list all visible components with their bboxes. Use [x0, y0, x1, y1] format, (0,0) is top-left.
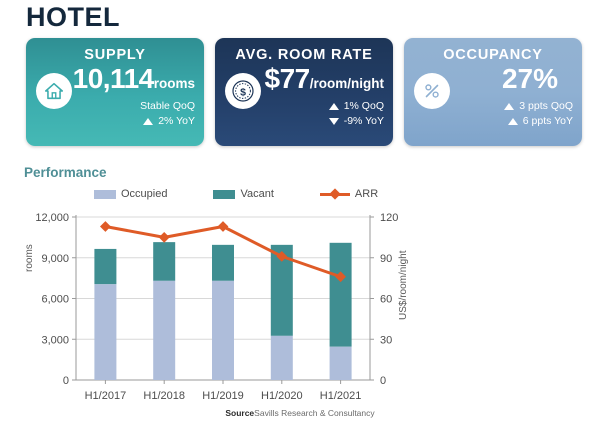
kpi-card-occupancy-metric-yoy: 6 ppts YoY — [508, 115, 573, 127]
performance-chart: Occupied Vacant ARR 03,0006,0009,00012,0… — [0, 188, 600, 406]
kpi-card-occupancy[interactable]: OCCUPANCY 27% 3 ppts QoQ 6 ppts YoY — [404, 38, 582, 146]
page-title: HOTEL — [26, 2, 120, 33]
supply-metric-yoy-text: 2% YoY — [158, 115, 195, 127]
x-axis-tick-label: H1/2019 — [202, 390, 244, 402]
occupancy-metric-yoy-text: 6 ppts YoY — [523, 115, 573, 127]
y-axis-tick-right: 0 — [380, 375, 386, 387]
chart-plot-area: 03,0006,0009,00012,0000306090120H1/2017H… — [0, 188, 600, 406]
section-title-performance: Performance — [24, 165, 107, 180]
kpi-card-avg-room-rate-title: AVG. ROOM RATE — [215, 47, 393, 63]
supply-metric-qoq-text: Stable QoQ — [140, 100, 195, 112]
svg-text:$: $ — [240, 86, 246, 98]
arr-data-point — [100, 221, 111, 232]
y-axis-tick-left: 12,000 — [35, 212, 69, 224]
y-axis-tick-right: 60 — [380, 294, 392, 306]
kpi-card-supply-body: 10,114rooms Stable QoQ 2% YoY — [26, 63, 204, 135]
kpi-card-occupancy-value: 27% — [502, 65, 558, 93]
bar-vacant — [94, 249, 116, 284]
source-text: Savills Research & Consultancy — [254, 408, 374, 418]
kpi-card-avg-room-rate-value: $77/room/night — [265, 65, 384, 93]
kpi-card-avg-room-rate-metric-qoq: 1% QoQ — [329, 100, 384, 112]
bar-vacant — [330, 243, 352, 347]
supply-value-unit: rooms — [154, 76, 195, 91]
bar-vacant — [212, 245, 234, 281]
kpi-card-occupancy-body: 27% 3 ppts QoQ 6 ppts YoY — [404, 63, 582, 135]
rate-metric-qoq-text: 1% QoQ — [344, 100, 384, 112]
kpi-card-occupancy-title: OCCUPANCY — [404, 47, 582, 63]
dollar-coin-icon: $ — [225, 73, 261, 109]
y-axis-tick-left: 0 — [63, 375, 69, 387]
arrow-up-icon — [143, 118, 153, 125]
arr-data-point — [159, 232, 170, 243]
house-icon — [36, 73, 72, 109]
y-axis-tick-left: 6,000 — [41, 294, 69, 306]
y-axis-tick-left: 9,000 — [41, 253, 69, 265]
arrow-up-icon — [508, 118, 518, 125]
kpi-card-avg-room-rate-metric-yoy: -9% YoY — [329, 115, 384, 127]
y-axis-tick-right: 120 — [380, 212, 398, 224]
rate-metric-yoy-text: -9% YoY — [344, 115, 384, 127]
y-axis-label-right: US$/room/night — [398, 251, 409, 320]
x-axis-tick-label: H1/2020 — [261, 390, 303, 402]
bar-occupied — [212, 281, 234, 380]
hotel-dashboard: HOTEL SUPPLY 10,114rooms Stable QoQ — [0, 0, 600, 425]
kpi-card-occupancy-metric-qoq: 3 ppts QoQ — [504, 100, 573, 112]
y-axis-tick-right: 30 — [380, 334, 392, 346]
arr-data-point — [218, 221, 229, 232]
x-axis-tick-label: H1/2018 — [143, 390, 185, 402]
kpi-card-avg-room-rate[interactable]: AVG. ROOM RATE $ $77/room/night 1% QoQ — [215, 38, 393, 146]
x-axis-tick-label: H1/2017 — [85, 390, 127, 402]
bar-vacant — [153, 242, 175, 281]
arrow-down-icon — [329, 118, 339, 125]
kpi-card-supply-title: SUPPLY — [26, 47, 204, 63]
percent-icon — [414, 73, 450, 109]
bar-occupied — [271, 336, 293, 380]
rate-value-unit: /room/night — [310, 76, 384, 91]
arrow-up-icon — [329, 103, 339, 110]
rate-value-number: $77 — [265, 63, 310, 94]
kpi-card-avg-room-rate-body: $ $77/room/night 1% QoQ -9% YoY — [215, 63, 393, 135]
bar-occupied — [153, 281, 175, 380]
supply-value-number: 10,114 — [73, 63, 154, 94]
kpi-card-supply[interactable]: SUPPLY 10,114rooms Stable QoQ — [26, 38, 204, 146]
source-note: SourceSavills Research & Consultancy — [0, 408, 600, 418]
occupancy-metric-qoq-text: 3 ppts QoQ — [519, 100, 573, 112]
bar-occupied — [330, 347, 352, 380]
kpi-card-supply-metric-qoq: Stable QoQ — [125, 100, 195, 112]
kpi-card-supply-value: 10,114rooms — [73, 65, 195, 93]
bar-occupied — [94, 284, 116, 380]
kpi-card-supply-metric-yoy: 2% YoY — [143, 115, 195, 127]
source-prefix: Source — [225, 408, 254, 418]
y-axis-tick-right: 90 — [380, 253, 392, 265]
y-axis-tick-left: 3,000 — [41, 334, 69, 346]
x-axis-tick-label: H1/2021 — [320, 390, 362, 402]
arrow-up-icon — [504, 103, 514, 110]
y-axis-label-left: rooms — [24, 244, 35, 272]
kpi-card-row: SUPPLY 10,114rooms Stable QoQ — [26, 38, 582, 146]
